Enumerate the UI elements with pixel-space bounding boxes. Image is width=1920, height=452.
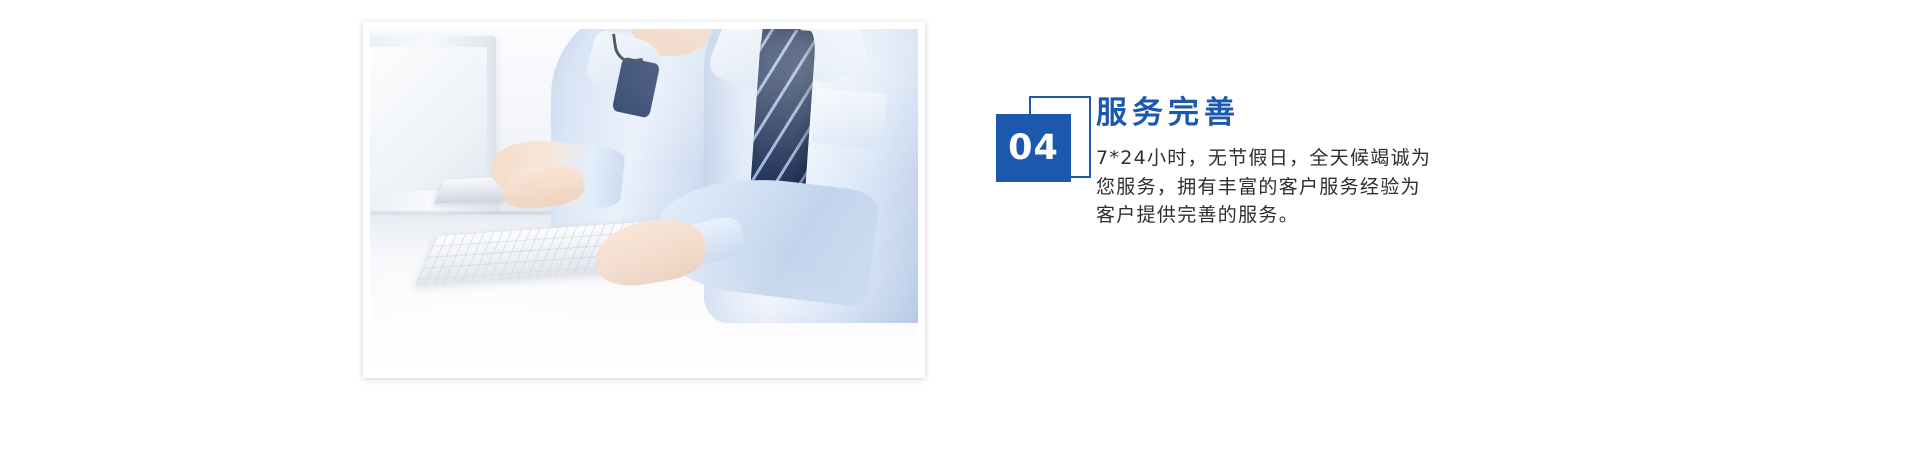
feature-description: 7*24小时，无节假日，全天候竭诚为 您服务，拥有丰富的客户服务经验为 客户提供… [1096, 144, 1496, 231]
feature-section: 04 服务完善 7*24小时，无节假日，全天候竭诚为 您服务，拥有丰富的客户服务… [0, 0, 1920, 452]
monitor-stand [370, 137, 376, 167]
customer-service-photo [370, 29, 918, 371]
badge-number-label: 04 [1008, 131, 1059, 166]
feature-photo-frame [363, 22, 925, 378]
feature-description-line: 7*24小时，无节假日，全天候竭诚为 [1096, 144, 1496, 173]
feature-text-column: 服务完善 7*24小时，无节假日，全天候竭诚为 您服务，拥有丰富的客户服务经验为… [1096, 96, 1516, 230]
front-person-shirt-pocket [812, 88, 888, 149]
monitor-screen [370, 47, 487, 191]
feature-title: 服务完善 [1096, 96, 1516, 132]
feature-number-badge: 04 [996, 96, 1092, 200]
feature-description-line: 客户提供完善的服务。 [1096, 201, 1496, 230]
badge-filled-square: 04 [996, 114, 1071, 182]
feature-description-line: 您服务，拥有丰富的客户服务经验为 [1096, 173, 1496, 202]
